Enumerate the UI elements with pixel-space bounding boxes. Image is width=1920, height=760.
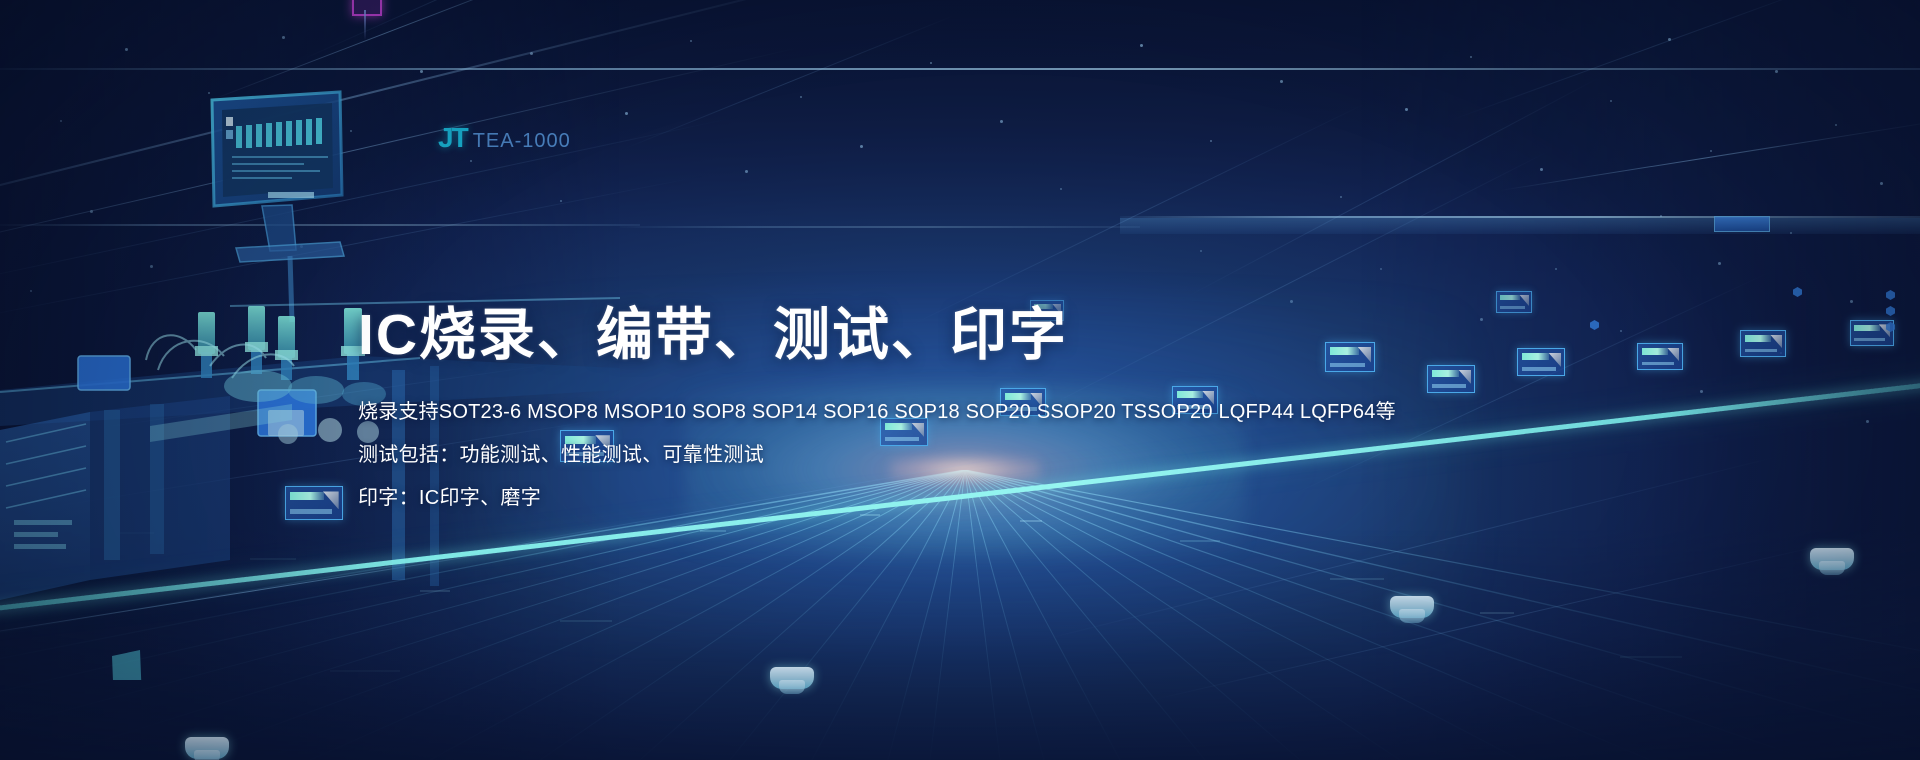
indicator-panel xyxy=(112,650,142,680)
equipment-logo: JT TEA-1000 xyxy=(438,122,571,154)
magenta-indicator-icon xyxy=(352,0,382,16)
monitor-icon xyxy=(212,92,344,322)
banner-content: IC烧录、编带、测试、印字 烧录支持SOT23-6 MSOP8 MSOP10 S… xyxy=(358,304,1598,508)
hero-banner: JT TEA-1000 IC烧录、编带、测试、印字 烧录支持SOT23-6 MS… xyxy=(0,0,1920,760)
subtitle-printing: 印字：IC印字、磨字 xyxy=(358,488,1598,508)
subtitle-packages: 烧录支持SOT23-6 MSOP8 MSOP10 SOP8 SOP14 SOP1… xyxy=(358,402,1598,422)
floating-panel-icon xyxy=(285,486,343,520)
floating-panel-icon xyxy=(1740,330,1786,357)
equipment-model-text: TEA-1000 xyxy=(473,130,571,153)
indicator-stem xyxy=(364,10,366,40)
rail-pod-icon xyxy=(1810,548,1854,570)
rail-pod-icon xyxy=(1390,596,1434,618)
rail-pod-icon xyxy=(185,737,229,759)
page-title: IC烧录、编带、测试、印字 xyxy=(358,304,1598,368)
brand-logo-text: JT xyxy=(438,122,467,154)
machine-base-rack xyxy=(0,396,292,600)
shelf-equipment-icon xyxy=(1714,216,1770,232)
rail-pod-icon xyxy=(770,667,814,689)
subtitle-tests: 测试包括：功能测试、性能测试、可靠性测试 xyxy=(358,445,1598,465)
floating-panel-icon xyxy=(1637,343,1683,370)
